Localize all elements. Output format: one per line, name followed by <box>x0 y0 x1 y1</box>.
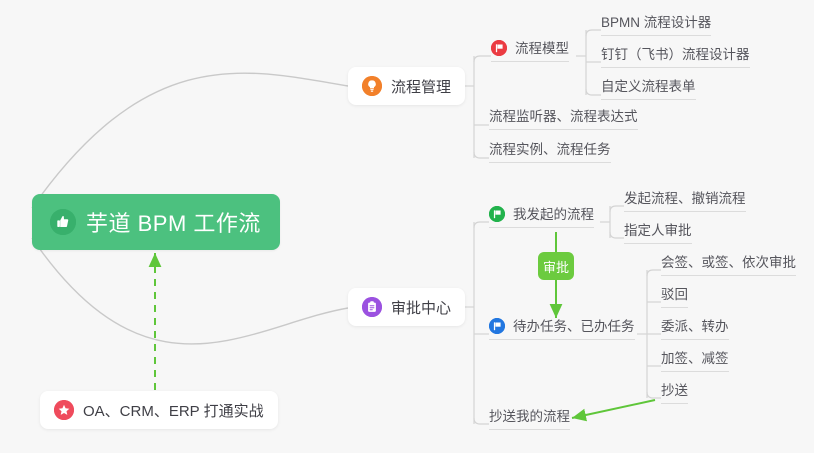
node-label: 抄送我的流程 <box>489 408 570 425</box>
node-oa-crm-erp[interactable]: OA、CRM、ERP 打通实战 <box>40 391 278 429</box>
edge-mi-to-assignee <box>610 232 624 238</box>
node-start-cancel-process[interactable]: 发起流程、撤销流程 <box>624 190 746 212</box>
node-label: 流程实例、流程任务 <box>489 141 611 158</box>
node-custom-process-form[interactable]: 自定义流程表单 <box>601 78 696 100</box>
edge-root-to-process-management <box>32 73 348 208</box>
node-label: 抄送 <box>661 382 688 399</box>
node-label: 待办任务、已办任务 <box>513 318 635 335</box>
root-node[interactable]: 芋道 BPM 工作流 <box>32 194 280 250</box>
clipboard-icon <box>362 297 382 317</box>
node-label: 发起流程、撤销流程 <box>624 190 746 207</box>
node-label: 流程模型 <box>515 40 569 57</box>
edge-model-to-customform <box>586 89 601 95</box>
node-bpmn-designer[interactable]: BPMN 流程设计器 <box>601 14 711 36</box>
node-label: 我发起的流程 <box>513 206 594 223</box>
node-delegate-transfer[interactable]: 委派、转办 <box>661 318 729 340</box>
lightbulb-icon <box>362 76 382 96</box>
node-process-management[interactable]: 流程管理 <box>348 67 465 105</box>
node-label: BPMN 流程设计器 <box>601 14 711 31</box>
mindmap-canvas: 芋道 BPM 工作流 流程管理 审批中心 <box>0 0 814 453</box>
thumbs-up-icon <box>50 209 76 235</box>
edge-todo-to-cc <box>647 392 661 398</box>
node-dingtalk-feishu-designer[interactable]: 钉钉（飞书）流程设计器 <box>601 46 750 68</box>
arrow-cc-to-cc-mine <box>572 400 655 418</box>
edge-ac-to-cc-mine <box>474 418 489 424</box>
edge-pm-to-process-model <box>474 56 491 62</box>
approval-pill-label: 审批 <box>538 252 574 280</box>
approval-pill-text: 审批 <box>543 257 569 276</box>
node-approval-center[interactable]: 审批中心 <box>348 288 465 326</box>
star-icon <box>54 400 74 420</box>
node-label: 流程管理 <box>391 76 451 97</box>
node-label: OA、CRM、ERP 打通实战 <box>83 400 264 421</box>
edge-todo-to-countersign <box>647 270 661 276</box>
node-label: 委派、转办 <box>661 318 729 335</box>
node-label: 驳回 <box>661 286 688 303</box>
node-label: 自定义流程表单 <box>601 78 696 95</box>
flag-icon <box>489 206 505 222</box>
node-process-listener-expression[interactable]: 流程监听器、流程表达式 <box>489 108 638 130</box>
flag-icon <box>491 40 507 56</box>
edge-root-to-approval-center <box>32 238 348 344</box>
node-label: 审批中心 <box>391 297 451 318</box>
edge-pm-to-instance <box>474 152 489 158</box>
root-label: 芋道 BPM 工作流 <box>86 206 261 238</box>
flag-icon <box>489 318 505 334</box>
edge-model-to-bpmn <box>586 30 601 36</box>
edge-mi-to-start <box>610 206 624 212</box>
node-todo-done-tasks[interactable]: 待办任务、已办任务 <box>489 318 635 340</box>
node-label: 钉钉（飞书）流程设计器 <box>601 46 750 63</box>
node-add-remove-sign[interactable]: 加签、减签 <box>661 350 729 372</box>
node-cc-to-me-processes[interactable]: 抄送我的流程 <box>489 408 570 430</box>
node-label: 流程监听器、流程表达式 <box>489 108 638 125</box>
node-countersign-or-sequential[interactable]: 会签、或签、依次审批 <box>661 254 796 276</box>
edge-ac-to-my-initiated <box>474 222 489 228</box>
node-my-initiated-processes[interactable]: 我发起的流程 <box>489 206 594 228</box>
node-label: 指定人审批 <box>624 222 692 239</box>
node-label: 加签、减签 <box>661 350 729 367</box>
node-cc[interactable]: 抄送 <box>661 382 688 404</box>
node-label: 会签、或签、依次审批 <box>661 254 796 271</box>
node-assignee-approval[interactable]: 指定人审批 <box>624 222 692 244</box>
node-process-instance-task[interactable]: 流程实例、流程任务 <box>489 141 611 163</box>
node-reject[interactable]: 驳回 <box>661 286 688 308</box>
node-process-model[interactable]: 流程模型 <box>491 40 569 62</box>
